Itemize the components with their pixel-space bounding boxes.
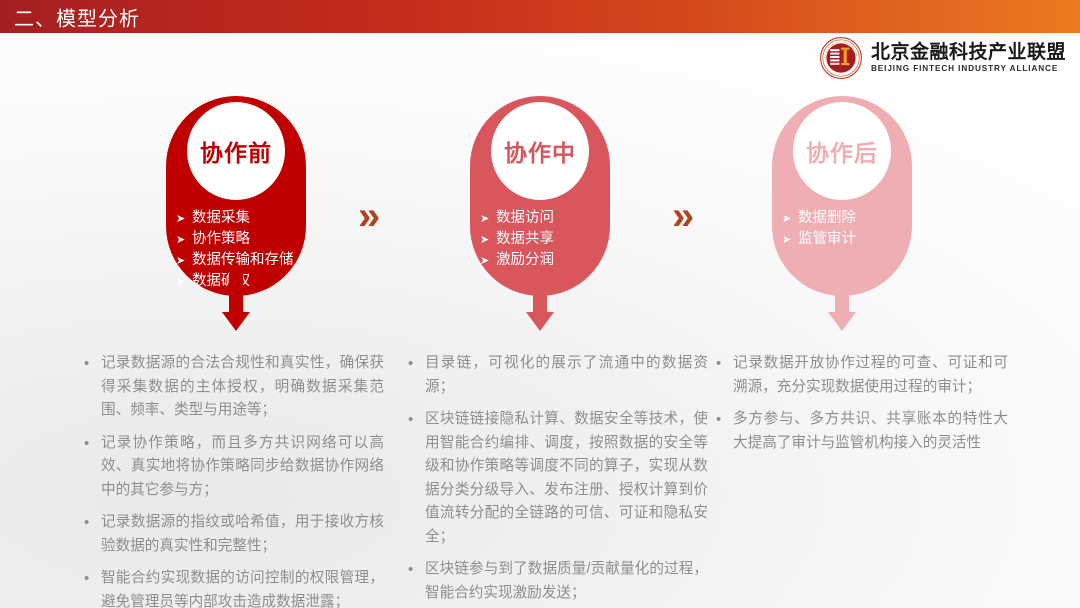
page-title: 二、模型分析 bbox=[14, 2, 140, 31]
stage-badge-during: 协作中 bbox=[491, 102, 589, 200]
arrow-bullet-icon: ➤ bbox=[782, 209, 798, 229]
stage-item: ➤ 数据访问 bbox=[480, 208, 604, 229]
list-item-text: 目录链，可视化的展示了流通中的数据资源； bbox=[425, 352, 708, 399]
list-item: • 记录数据源的合法合规性和真实性，确保获得采集数据的主体授权，明确数据采集范围… bbox=[84, 352, 384, 423]
arrow-bullet-icon: ➤ bbox=[480, 230, 496, 250]
header-bar: 二、模型分析 bbox=[0, 0, 1080, 33]
stage-item-label: 数据共享 bbox=[496, 229, 554, 249]
stage-item-label: 数据传输和存储 bbox=[192, 250, 294, 270]
list-item: • 区块链链接隐私计算、数据安全等技术，使用智能合约编排、调度，按照数据的安全等… bbox=[408, 408, 708, 549]
list-item: • 记录协作策略，而且多方共识网络可以高效、真实地将协作策略同步给数据协作网络中… bbox=[84, 432, 384, 503]
detail-list: • 记录数据开放协作过程的可查、可证和可溯源，充分实现数据使用过程的审计； • … bbox=[716, 352, 1008, 455]
list-item: • 记录数据源的指纹或哈希值，用于接收方核验数据的真实性和完整性； bbox=[84, 511, 384, 558]
double-chevron-right-icon: » bbox=[358, 196, 376, 236]
stage-item-list-during: ➤ 数据访问 ➤ 数据共享 ➤ 激励分润 bbox=[480, 208, 604, 271]
detail-column-during: • 目录链，可视化的展示了流通中的数据资源； • 区块链链接隐私计算、数据安全等… bbox=[408, 352, 708, 605]
list-item-text: 记录协作策略，而且多方共识网络可以高效、真实地将协作策略同步给数据协作网络中的其… bbox=[101, 432, 384, 503]
down-arrow-icon bbox=[523, 272, 557, 334]
dot-bullet-icon: • bbox=[408, 558, 425, 582]
list-item-text: 区块链链接隐私计算、数据安全等技术，使用智能合约编排、调度，按照数据的安全等级和… bbox=[425, 408, 708, 549]
arrow-bullet-icon: ➤ bbox=[480, 251, 496, 271]
stage-label-after: 协作后 bbox=[806, 134, 878, 168]
dot-bullet-icon: • bbox=[84, 567, 101, 591]
list-item-text: 记录数据源的指纹或哈希值，用于接收方核验数据的真实性和完整性； bbox=[101, 511, 384, 558]
logo-text: 北京金融科技产业联盟 BEIJING FINTECH INDUSTRY ALLI… bbox=[871, 43, 1066, 73]
stage-item-label: 协作策略 bbox=[192, 229, 250, 249]
stage-pill-after[interactable]: 协作后 ➤ 数据删除 ➤ 监管审计 bbox=[772, 96, 912, 296]
arrow-bullet-icon: ➤ bbox=[176, 209, 192, 229]
stage-item-list-after: ➤ 数据删除 ➤ 监管审计 bbox=[782, 208, 906, 250]
dot-bullet-icon: • bbox=[84, 511, 101, 535]
stage-item: ➤ 激励分润 bbox=[480, 250, 604, 271]
stage-item-label: 数据采集 bbox=[192, 208, 250, 228]
stage-item-label: 激励分润 bbox=[496, 250, 554, 270]
stage-pill-before[interactable]: 协作前 ➤ 数据采集 ➤ 协作策略 ➤ 数据传输和存储 ➤ 数据确权 bbox=[166, 96, 306, 296]
dot-bullet-icon: • bbox=[408, 408, 425, 432]
dot-bullet-icon: • bbox=[84, 352, 101, 376]
double-chevron-right-icon: » bbox=[672, 196, 690, 236]
list-item: • 区块链参与到了数据质量/贡献量化的过程，智能合约实现激励发送； bbox=[408, 558, 708, 605]
arrow-bullet-icon: ➤ bbox=[480, 209, 496, 229]
detail-list: • 目录链，可视化的展示了流通中的数据资源； • 区块链链接隐私计算、数据安全等… bbox=[408, 352, 708, 605]
alliance-seal-icon bbox=[819, 36, 863, 80]
slide: 二、模型分析 bbox=[0, 0, 1080, 608]
detail-list: • 记录数据源的合法合规性和真实性，确保获得采集数据的主体授权，明确数据采集范围… bbox=[84, 352, 384, 608]
stage-badge-after: 协作后 bbox=[793, 102, 891, 200]
list-item-text: 记录数据源的合法合规性和真实性，确保获得采集数据的主体授权，明确数据采集范围、频… bbox=[101, 352, 384, 423]
list-item: • 记录数据开放协作过程的可查、可证和可溯源，充分实现数据使用过程的审计； bbox=[716, 352, 1008, 399]
stage-badge-before: 协作前 bbox=[187, 102, 285, 200]
stage-item: ➤ 数据删除 bbox=[782, 208, 906, 229]
stage-item: ➤ 监管审计 bbox=[782, 229, 906, 250]
arrow-bullet-icon: ➤ bbox=[782, 230, 798, 250]
arrow-bullet-icon: ➤ bbox=[176, 272, 192, 292]
arrow-bullet-icon: ➤ bbox=[176, 230, 192, 250]
list-item: • 目录链，可视化的展示了流通中的数据资源； bbox=[408, 352, 708, 399]
stage-pill-during[interactable]: 协作中 ➤ 数据访问 ➤ 数据共享 ➤ 激励分润 bbox=[470, 96, 610, 296]
stage-label-during: 协作中 bbox=[504, 134, 576, 168]
logo-name-cn: 北京金融科技产业联盟 bbox=[871, 43, 1066, 62]
list-item-text: 区块链参与到了数据质量/贡献量化的过程，智能合约实现激励发送； bbox=[425, 558, 708, 605]
stage-item-label: 数据访问 bbox=[496, 208, 554, 228]
down-arrow-icon bbox=[219, 272, 253, 334]
stage-item: ➤ 数据传输和存储 bbox=[176, 250, 300, 271]
stage-item: ➤ 数据共享 bbox=[480, 229, 604, 250]
stage-item: ➤ 协作策略 bbox=[176, 229, 300, 250]
detail-column-after: • 记录数据开放协作过程的可查、可证和可溯源，充分实现数据使用过程的审计； • … bbox=[716, 352, 1008, 455]
dot-bullet-icon: • bbox=[408, 352, 425, 376]
list-item-text: 记录数据开放协作过程的可查、可证和可溯源，充分实现数据使用过程的审计； bbox=[733, 352, 1008, 399]
dot-bullet-icon: • bbox=[716, 352, 733, 376]
down-arrow-icon bbox=[825, 272, 859, 334]
dot-bullet-icon: • bbox=[84, 432, 101, 456]
detail-column-before: • 记录数据源的合法合规性和真实性，确保获得采集数据的主体授权，明确数据采集范围… bbox=[84, 352, 384, 608]
logo-name-en: BEIJING FINTECH INDUSTRY ALLIANCE bbox=[871, 65, 1066, 73]
arrow-bullet-icon: ➤ bbox=[176, 251, 192, 271]
list-item: • 多方参与、多方共识、共享账本的特性大大提高了审计与监管机构接入的灵活性 bbox=[716, 408, 1008, 455]
stage-label-before: 协作前 bbox=[200, 134, 272, 168]
list-item: • 智能合约实现数据的访问控制的权限管理，避免管理员等内部攻击造成数据泄露； bbox=[84, 567, 384, 608]
stage-item-label: 监管审计 bbox=[798, 229, 856, 249]
list-item-text: 多方参与、多方共识、共享账本的特性大大提高了审计与监管机构接入的灵活性 bbox=[733, 408, 1008, 455]
stage-item: ➤ 数据采集 bbox=[176, 208, 300, 229]
logo: 北京金融科技产业联盟 BEIJING FINTECH INDUSTRY ALLI… bbox=[819, 36, 1066, 80]
list-item-text: 智能合约实现数据的访问控制的权限管理，避免管理员等内部攻击造成数据泄露； bbox=[101, 567, 384, 608]
stage-item-label: 数据删除 bbox=[798, 208, 856, 228]
dot-bullet-icon: • bbox=[716, 408, 733, 432]
